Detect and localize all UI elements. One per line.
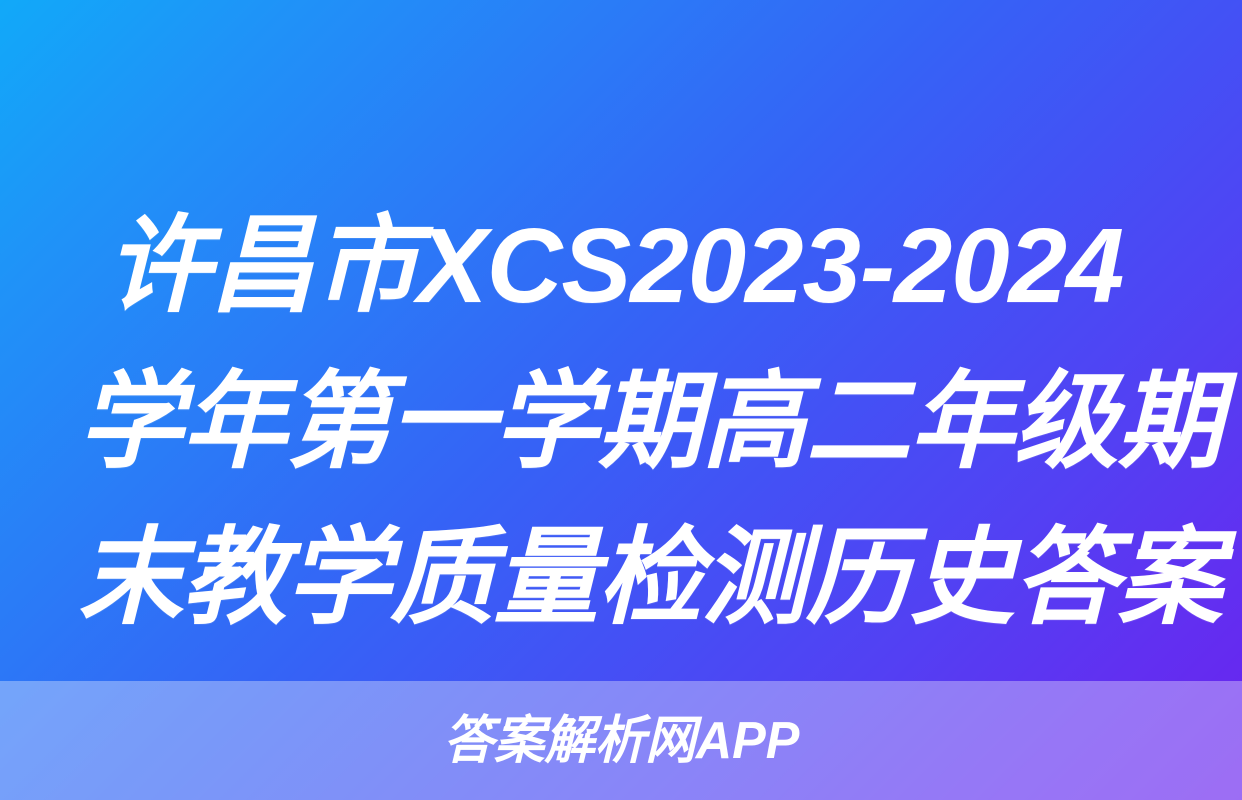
page-title: 许昌市XCS2023-2024 学年第一学期高二年级期 末教学质量检测历史答案 xyxy=(78,188,1168,656)
poster-canvas: 许昌市XCS2023-2024 学年第一学期高二年级期 末教学质量检测历史答案 … xyxy=(0,0,1242,800)
page-title-line-2: 学年第一学期高二年级期 xyxy=(78,344,1157,500)
page-title-line-1: 许昌市XCS2023-2024 xyxy=(78,188,1157,344)
site-watermark-label: 答案解析网APP xyxy=(443,715,799,767)
page-title-line-3: 末教学质量检测历史答案 xyxy=(78,500,1157,656)
footer-watermark-band: 答案解析网APP xyxy=(0,681,1242,800)
